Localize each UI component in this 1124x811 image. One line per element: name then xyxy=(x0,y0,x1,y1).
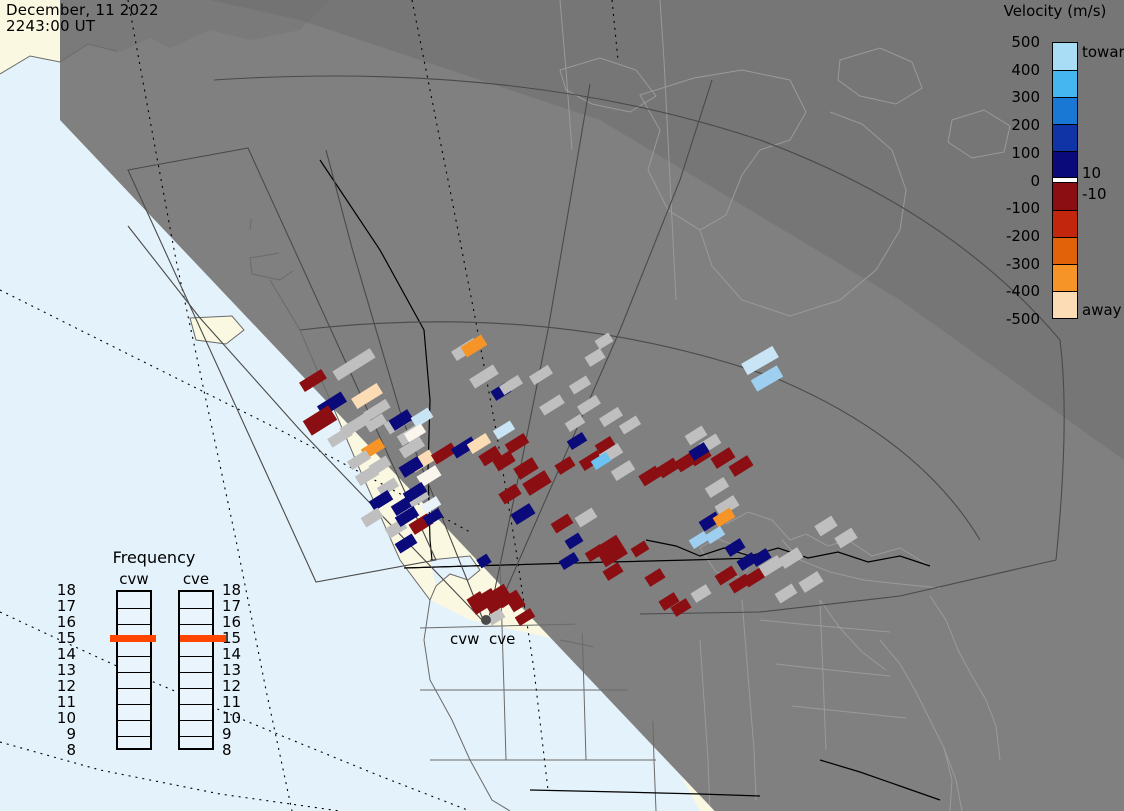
colorbar-band xyxy=(1053,124,1077,151)
frequency-segment xyxy=(180,608,212,624)
frequency-segment xyxy=(180,640,212,656)
colorbar-tick-label: -500 xyxy=(1006,310,1040,328)
colorbar-band xyxy=(1053,237,1077,264)
colorbar-band xyxy=(1053,43,1077,70)
colorbar-negative-threshold: -10 xyxy=(1082,185,1107,203)
frequency-column-label: cve xyxy=(173,570,219,588)
colorbar-strip xyxy=(1052,42,1078,319)
colorbar-away-label: away xyxy=(1082,301,1122,319)
colorbar-tick-label: -100 xyxy=(1006,199,1040,217)
frequency-segment xyxy=(118,720,150,736)
frequency-column-label: cvw xyxy=(111,570,157,588)
colorbar-tick-label: -300 xyxy=(1006,255,1040,273)
frequency-segment xyxy=(118,656,150,672)
colorbar-band xyxy=(1053,183,1077,210)
frequency-bar xyxy=(116,590,152,750)
colorbar-tick-label: -200 xyxy=(1006,227,1040,245)
radar-label-cve: cve xyxy=(489,630,515,648)
colorbar-band xyxy=(1053,264,1077,291)
colorbar-band xyxy=(1053,97,1077,124)
frequency-segment xyxy=(118,592,150,608)
frequency-segment xyxy=(180,592,212,608)
frequency-segment xyxy=(180,672,212,688)
frequency-segment xyxy=(180,656,212,672)
frequency-segment xyxy=(180,688,212,704)
frequency-segment xyxy=(118,688,150,704)
frequency-segment xyxy=(180,704,212,720)
frequency-tick-label: 8 xyxy=(222,741,232,759)
colorbar-tick-label: 500 xyxy=(1011,33,1040,51)
colorbar-tick-label: 300 xyxy=(1011,88,1040,106)
radar-site-marker xyxy=(481,615,491,625)
frequency-segment xyxy=(118,704,150,720)
colorbar-tick-label: 200 xyxy=(1011,116,1040,134)
timestamp-time: 2243:00 UT xyxy=(6,18,159,34)
radar-map-figure: December, 11 2022 2243:00 UT cvw cve Vel… xyxy=(0,0,1124,811)
timestamp-date: December, 11 2022 xyxy=(6,2,159,18)
frequency-tick-label: 8 xyxy=(66,741,76,759)
colorbar-band xyxy=(1053,291,1077,318)
colorbar-tick-label: 100 xyxy=(1011,144,1040,162)
colorbar-toward-label: toward xyxy=(1082,43,1124,61)
frequency-segment xyxy=(118,608,150,624)
colorbar-band xyxy=(1053,210,1077,237)
frequency-segment xyxy=(118,736,150,752)
colorbar-tick-label: -400 xyxy=(1006,282,1040,300)
velocity-colorbar: Velocity (m/s) 5004003002001000-100-200-… xyxy=(990,0,1124,330)
colorbar-title: Velocity (m/s) xyxy=(990,2,1120,20)
colorbar-tick-label: 400 xyxy=(1011,61,1040,79)
colorbar-tick-label: 0 xyxy=(1030,172,1040,190)
frequency-marker xyxy=(180,635,226,642)
colorbar-band xyxy=(1053,70,1077,97)
frequency-legend: Frequency cvw18171615141312111098cve1817… xyxy=(78,548,238,783)
colorbar-band xyxy=(1053,151,1077,178)
frequency-segment xyxy=(180,736,212,752)
radar-label-cvw: cvw xyxy=(450,630,479,648)
frequency-segment xyxy=(118,640,150,656)
frequency-bar xyxy=(178,590,214,750)
frequency-segment xyxy=(118,672,150,688)
frequency-title: Frequency xyxy=(78,548,230,567)
frequency-segment xyxy=(180,720,212,736)
timestamp: December, 11 2022 2243:00 UT xyxy=(6,2,159,34)
colorbar-positive-threshold: 10 xyxy=(1082,164,1101,182)
frequency-marker xyxy=(110,635,156,642)
